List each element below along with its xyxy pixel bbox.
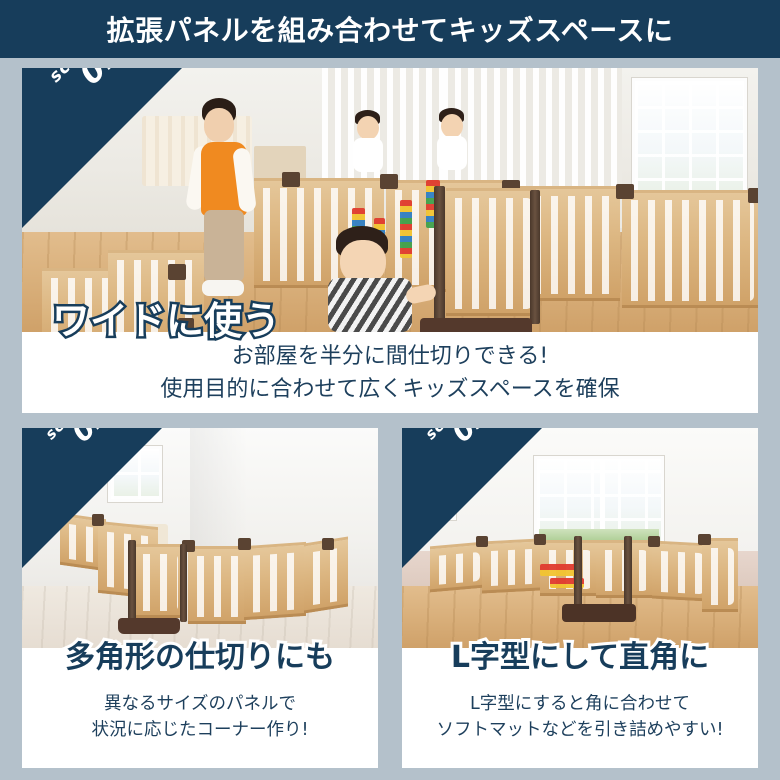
window-main (534, 456, 664, 548)
torso (437, 136, 467, 170)
gate-post (624, 536, 632, 610)
scene-photo-01: scean 01 (22, 68, 758, 332)
gate-post (180, 544, 187, 622)
page-header: 拡張パネルを組み合わせてキッズスペースに (0, 0, 780, 58)
scene-photo-03: scean 03 (402, 428, 758, 648)
head (204, 108, 234, 142)
fence-joint (698, 534, 711, 545)
scene-caption-01: お部屋を半分に間仕切りできる! 使用目的に合わせて広くキッズスペースを確保 (0, 340, 780, 407)
torso (353, 138, 383, 172)
fence-panel (430, 542, 484, 593)
fence-joint (534, 534, 546, 545)
head (357, 116, 379, 140)
legs (204, 210, 244, 282)
gate-base (420, 318, 532, 332)
fence-joint (748, 188, 758, 203)
caption-line: お部屋を半分に間仕切りできる! (0, 340, 780, 373)
caption-line: 使用目的に合わせて広くキッズスペースを確保 (0, 373, 780, 406)
striped-shirt (328, 278, 412, 332)
gate-post (128, 540, 136, 622)
fence-panel (482, 538, 540, 593)
fence-gate-panel (446, 188, 536, 316)
shoes (202, 280, 244, 296)
gate-base (118, 618, 180, 634)
fence-panel (622, 190, 758, 308)
page-title: 拡張パネルを組み合わせてキッズスペースに (107, 9, 674, 49)
caption-line: L字型にすると角に合わせて (402, 692, 758, 718)
gate-post (574, 536, 582, 612)
fence-joint (476, 536, 488, 547)
scene-caption-02: 異なるサイズのパネルで 状況に応じたコーナー作り! (22, 692, 378, 744)
fence-joint (238, 538, 251, 550)
fence-joint (168, 264, 186, 280)
caption-line: 状況に応じたコーナー作り! (22, 718, 378, 744)
child-behind-right (434, 108, 474, 180)
person-mother (186, 98, 276, 328)
fence-panel-return (702, 538, 738, 612)
fence-joint (322, 538, 334, 550)
fence-gate-panel (134, 544, 182, 618)
gate-post (434, 186, 445, 328)
child-front (322, 226, 432, 332)
fence-joint (92, 514, 104, 526)
fence-joint (282, 172, 300, 187)
badge-number: 02 (53, 428, 128, 461)
scene-caption-03: L字型にすると角に合わせて ソフトマットなどを引き詰めやすい! (402, 692, 758, 744)
fence-joint (648, 536, 660, 547)
fence-panel (244, 542, 306, 620)
scene-headline-03: L字型にして直角に (402, 643, 758, 673)
fence-panel (652, 541, 708, 602)
child-behind-left (350, 110, 390, 180)
badge-number: 03 (433, 428, 508, 461)
fence-joint (616, 184, 634, 199)
head (441, 114, 463, 138)
scene-photo-02: scean 02 (22, 428, 378, 648)
caption-line: 異なるサイズのパネルで (22, 692, 378, 718)
scene-headline-02: 多角形の仕切りにも (22, 643, 378, 673)
window-grid (635, 81, 744, 205)
scene-headline-01: ワイドに使う (52, 302, 280, 340)
soft-mat (562, 604, 636, 622)
window (632, 78, 747, 208)
fence-panel (188, 546, 246, 624)
caption-line: ソフトマットなどを引き詰めやすい! (402, 718, 758, 744)
gate-post (530, 190, 540, 324)
